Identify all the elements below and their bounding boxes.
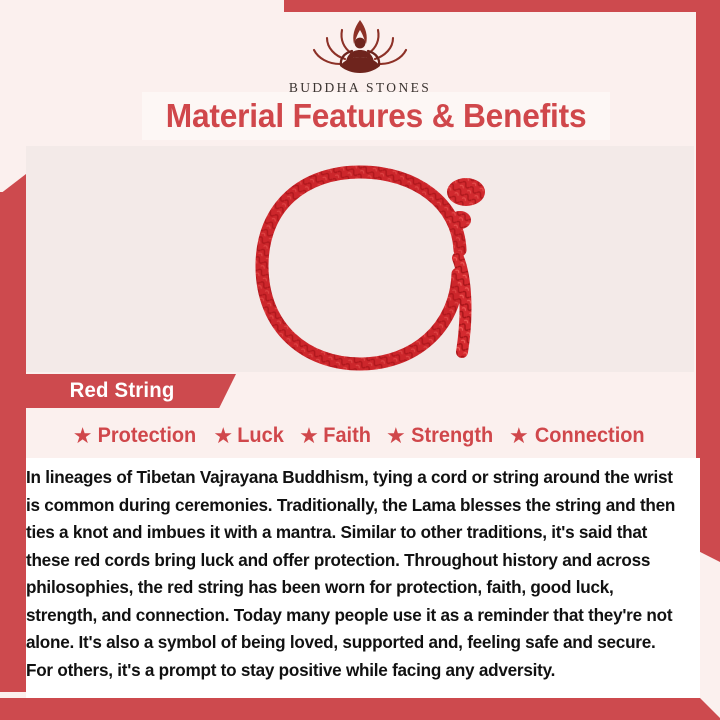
- lotus-meditation-icon: [296, 14, 424, 78]
- description-text: In lineages of Tibetan Vajrayana Buddhis…: [26, 458, 690, 684]
- feature-item-strength: ★ Strength: [386, 424, 495, 448]
- feature-label: Faith: [323, 424, 371, 448]
- feature-item-faith: ★ Faith: [299, 424, 372, 448]
- frame-band-left: [0, 192, 26, 692]
- frame-band-top: [284, 0, 720, 12]
- features-list: ★ Protection ★ Luck ★ Faith ★ Strength ★…: [26, 416, 694, 456]
- feature-label: Strength: [411, 424, 493, 448]
- product-label-banner: Red String: [26, 374, 236, 408]
- frame-band-bottom-notch: [700, 698, 720, 720]
- description-panel: In lineages of Tibetan Vajrayana Buddhis…: [26, 458, 700, 698]
- frame-band-left-notch: [0, 174, 26, 194]
- star-icon: ★: [509, 425, 529, 447]
- star-icon: ★: [73, 425, 93, 447]
- title-panel: Material Features & Benefits: [142, 92, 610, 140]
- star-icon: ★: [299, 425, 319, 447]
- feature-label: Connection: [535, 424, 645, 448]
- star-icon: ★: [386, 425, 406, 447]
- feature-item-protection: ★ Protection: [73, 424, 200, 448]
- frame-band-bottom: [0, 698, 700, 720]
- product-photo: [26, 146, 694, 372]
- feature-item-connection: ★ Connection: [509, 424, 647, 448]
- red-braided-cord-bracelet-illustration: [26, 146, 694, 372]
- page-title: Material Features & Benefits: [166, 97, 587, 135]
- feature-label: Protection: [98, 424, 197, 448]
- feature-label: Luck: [237, 424, 284, 448]
- product-label: Red String: [70, 379, 175, 403]
- infographic-card: BUDDHA STONES Material Features & Benefi…: [0, 0, 720, 720]
- star-icon: ★: [213, 425, 233, 447]
- brand-logo: BUDDHA STONES: [0, 14, 720, 96]
- feature-item-luck: ★ Luck: [213, 424, 285, 448]
